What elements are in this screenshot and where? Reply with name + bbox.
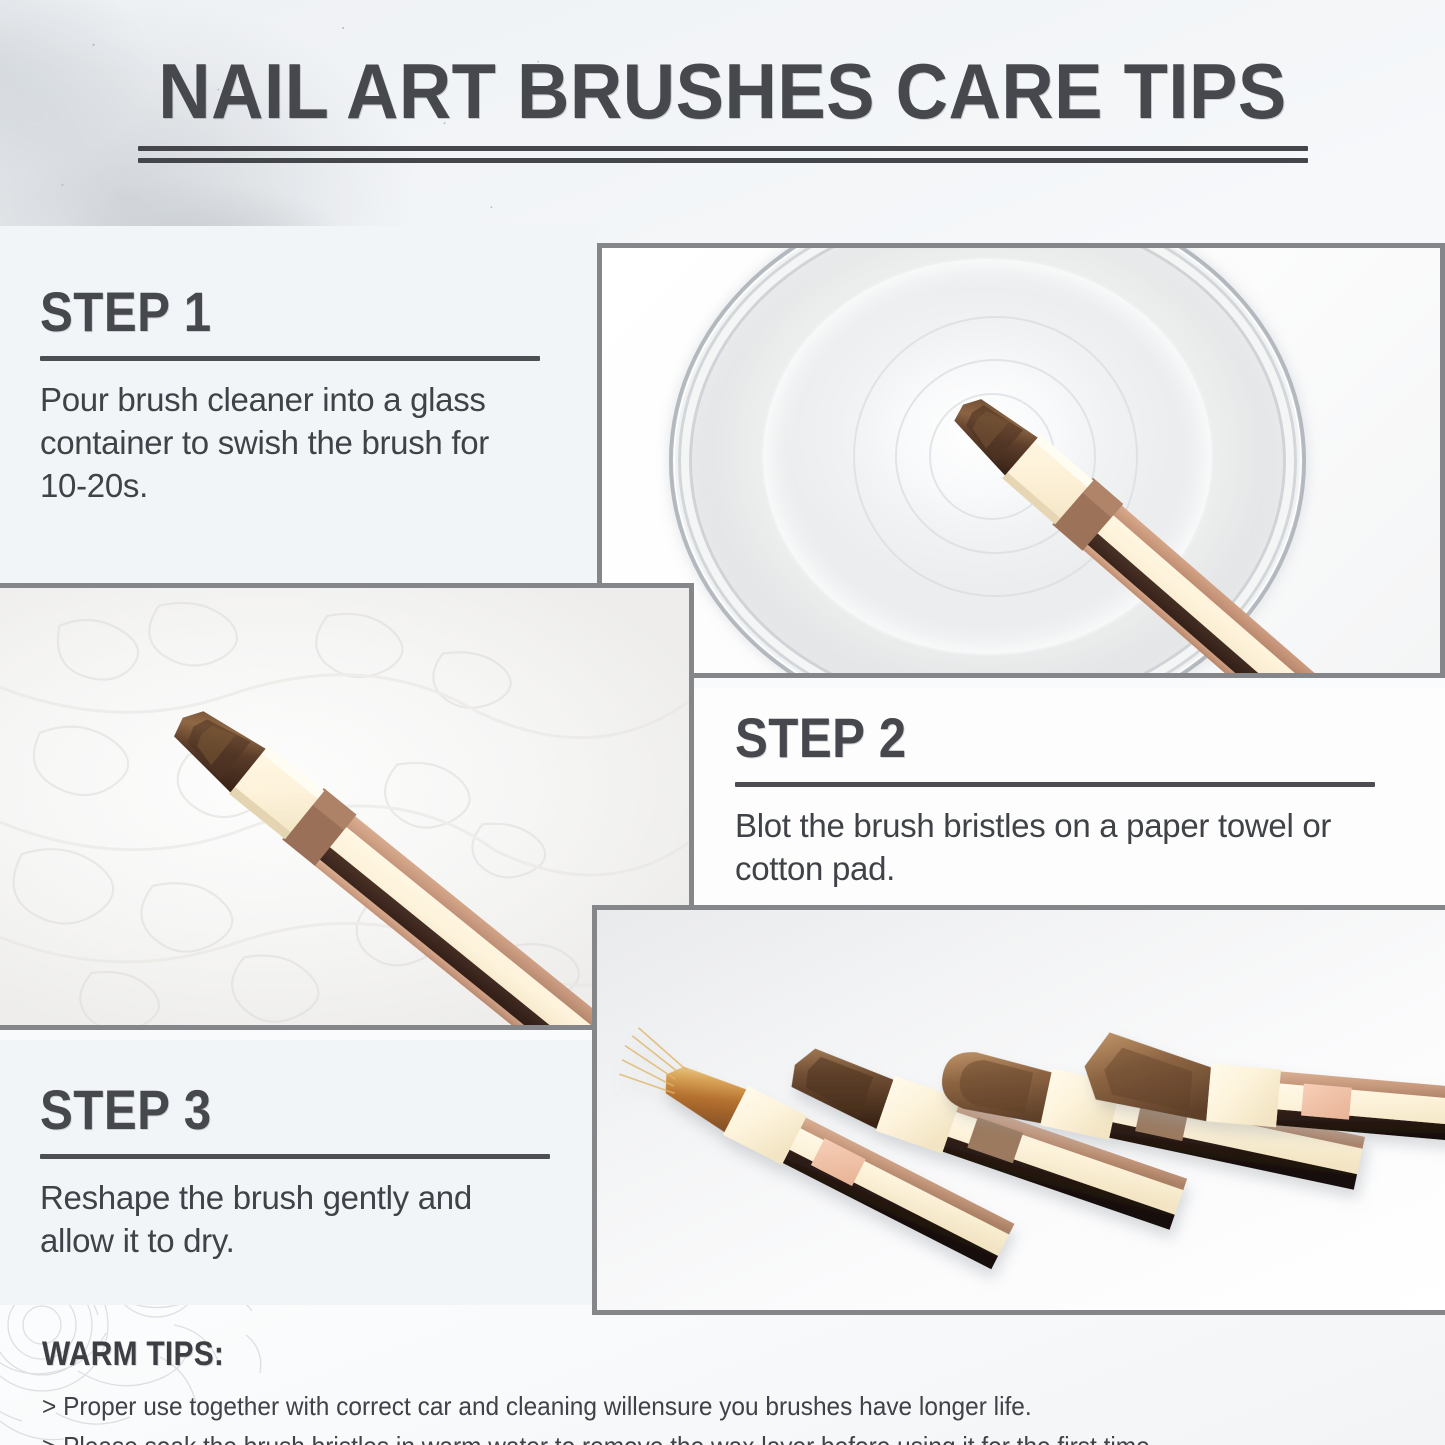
blotting-brush-illustration — [0, 588, 689, 1025]
poster-root: NAIL ART BRUSHES CARE TIPS STEP 1 Pour b… — [0, 0, 1445, 1445]
step-3-heading: STEP 3 — [40, 1082, 489, 1138]
step-3-rule — [40, 1154, 550, 1159]
page-title: NAIL ART BRUSHES CARE TIPS — [51, 56, 1395, 128]
step-3-photo — [592, 905, 1445, 1315]
brush-set-illustration — [597, 910, 1445, 1310]
step-2-heading: STEP 2 — [735, 710, 1298, 766]
step-1-photo-inner — [602, 248, 1440, 673]
warm-tips-line-2: > Please soak the brush bristles in warm… — [42, 1426, 1170, 1445]
dipping-brush-illustration — [602, 248, 1440, 673]
warm-tips-heading: WARM TIPS: — [42, 1335, 1098, 1374]
step-2-text-panel: STEP 2 Blot the brush bristles on a pape… — [694, 688, 1445, 906]
step-2-rule — [735, 782, 1375, 787]
step-3-text-panel: STEP 3 Reshape the brush gently and allo… — [0, 1040, 592, 1305]
step-1-text-panel: STEP 1 Pour brush cleaner into a glass c… — [0, 226, 598, 586]
step-1-rule — [40, 356, 540, 361]
warm-tips-section: WARM TIPS: > Proper use together with co… — [42, 1335, 1242, 1445]
title-rule-gap — [138, 151, 1308, 158]
step-3-body: Reshape the brush gently and allow it to… — [40, 1177, 550, 1263]
title-rule-bottom — [138, 158, 1308, 163]
title-underline-rules — [138, 146, 1308, 163]
step-1-heading: STEP 1 — [40, 284, 480, 340]
step-2-body: Blot the brush bristles on a paper towel… — [735, 805, 1375, 891]
warm-tips-line-1: > Proper use together with correct car a… — [42, 1386, 1170, 1426]
poster-title-wrapper: NAIL ART BRUSHES CARE TIPS — [0, 56, 1445, 128]
step-1-body: Pour brush cleaner into a glass containe… — [40, 379, 540, 508]
step-1-photo — [597, 243, 1445, 678]
step-3-photo-inner — [597, 910, 1445, 1310]
step-2-photo — [0, 583, 694, 1030]
step-2-photo-inner — [0, 588, 689, 1025]
